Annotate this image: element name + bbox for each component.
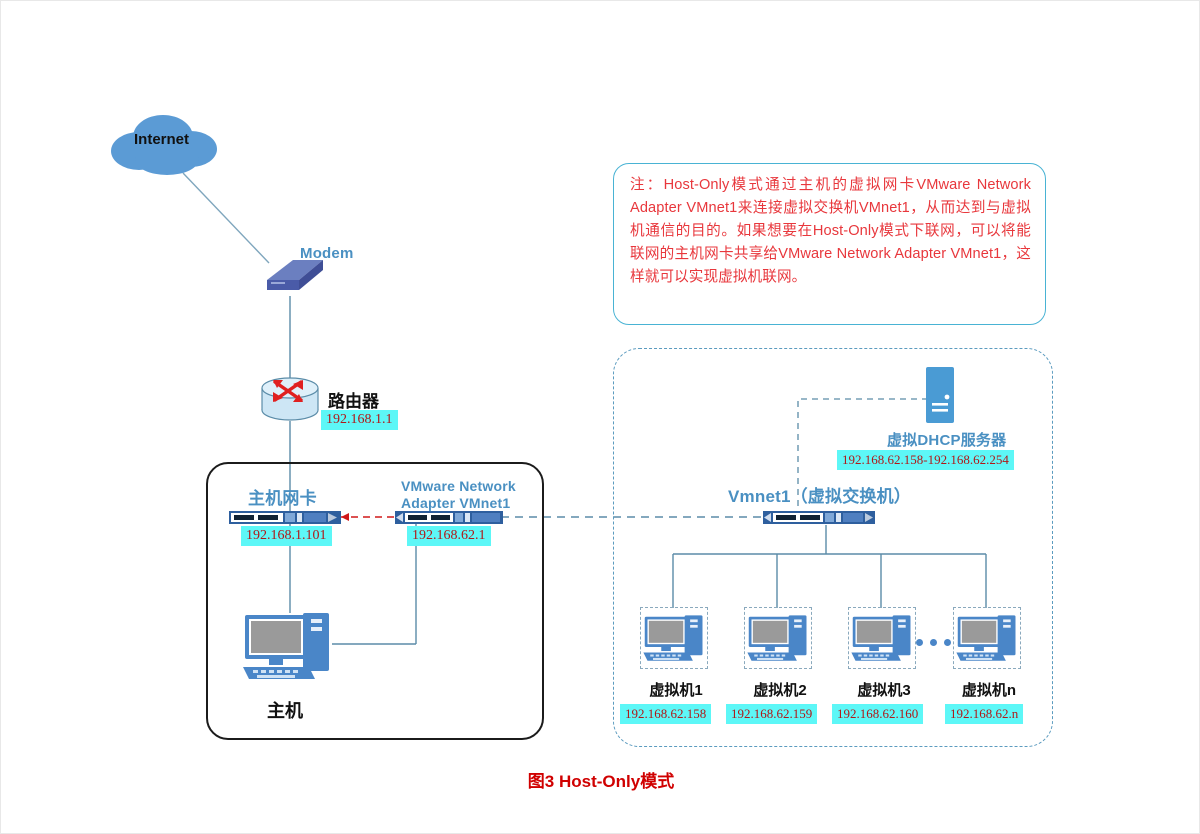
figure-caption: 图3 Host-Only模式: [1, 767, 1200, 792]
vm-label: 虚拟机1: [639, 679, 713, 700]
router-label: 路由器: [328, 387, 379, 412]
dhcp-ip-range: 192.168.62.158-192.168.62.254: [837, 450, 1014, 470]
host-pc-icon: [241, 607, 337, 690]
host-nic-ip: 192.168.1.101: [241, 526, 332, 546]
vmware-adapter-label: VMware Network Adapter VMnet1: [401, 478, 516, 512]
vm-icon: [955, 608, 1021, 673]
host-nic-label: 主机网卡: [248, 484, 317, 509]
note-callout: 注：Host-Only模式通过主机的虚拟网卡VMware Network Ada…: [613, 163, 1046, 325]
vm-label: 虚拟机2: [743, 679, 817, 700]
modem-label: Modem: [300, 245, 354, 262]
vm-ip: 192.168.62.159: [726, 704, 817, 724]
dhcp-server-label: 虚拟DHCP服务器: [887, 429, 1006, 450]
vm-ip: 192.168.62.158: [620, 704, 711, 724]
dhcp-server-icon: [923, 367, 957, 430]
host-pc-label: 主机: [267, 697, 303, 723]
vm-label: 虚拟机n: [952, 679, 1026, 700]
vmware-adapter-label-line1: VMware Network: [401, 478, 516, 495]
vm-label: 虚拟机3: [847, 679, 921, 700]
internet-label: Internet: [134, 131, 189, 148]
vm-icon: [642, 608, 708, 673]
router-ip: 192.168.1.1: [321, 410, 398, 430]
virtual-switch-icon: [763, 510, 875, 530]
vm-ip: 192.168.62.160: [832, 704, 923, 724]
vm-icon: [746, 608, 812, 673]
router-icon: [259, 376, 321, 427]
vm-icon: [850, 608, 916, 673]
ellipsis-dots-icon: [916, 639, 951, 646]
note-text: 注：Host-Only模式通过主机的虚拟网卡VMware Network Ada…: [630, 174, 1031, 289]
diagram-canvas: Internet Modem 路由器 192.168.1.1: [0, 0, 1200, 834]
vmware-adapter-ip: 192.168.62.1: [407, 526, 491, 546]
virtual-switch-label: Vmnet1（虚拟交换机）: [728, 482, 911, 507]
vm-ip: 192.168.62.n: [945, 704, 1023, 724]
